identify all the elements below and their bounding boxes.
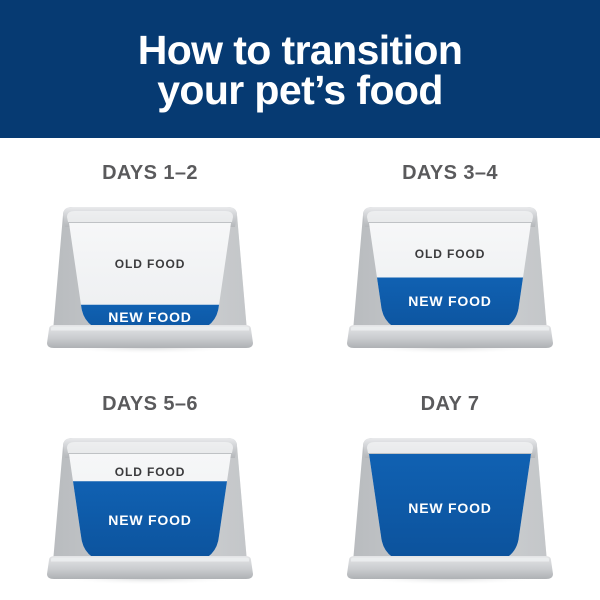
header-banner: How to transition your pet’s food bbox=[0, 0, 600, 138]
food-bowl-graphic-1 bbox=[41, 201, 259, 353]
food-bowl-2: OLD FOOD NEW FOOD bbox=[341, 201, 559, 353]
page-title-line-2: your pet’s food bbox=[138, 70, 463, 110]
step-label-4: DAY 7 bbox=[421, 393, 480, 416]
page-title-line-1: How to transition bbox=[138, 30, 463, 70]
food-bowl-3: OLD FOOD NEW FOOD bbox=[41, 432, 259, 584]
step-panel-3: DAYS 5–6 bbox=[0, 369, 300, 600]
food-bowl-graphic-2 bbox=[341, 201, 559, 353]
food-bowl-1: OLD FOOD NEW FOOD bbox=[41, 201, 259, 353]
step-panel-2: DAYS 3–4 bbox=[300, 138, 600, 369]
page-title: How to transition your pet’s food bbox=[138, 30, 463, 110]
food-bowl-4: NEW FOOD bbox=[341, 432, 559, 584]
step-label-1: DAYS 1–2 bbox=[102, 162, 198, 185]
step-label-3: DAYS 5–6 bbox=[102, 393, 198, 416]
infographic-root: How to transition your pet’s food DAYS 1… bbox=[0, 0, 600, 600]
step-panel-1: DAYS 1–2 bbox=[0, 138, 300, 369]
food-bowl-graphic-3 bbox=[41, 432, 259, 584]
steps-grid: DAYS 1–2 bbox=[0, 138, 600, 600]
food-bowl-graphic-4 bbox=[341, 432, 559, 584]
step-label-2: DAYS 3–4 bbox=[402, 162, 498, 185]
step-panel-4: DAY 7 bbox=[300, 369, 600, 600]
